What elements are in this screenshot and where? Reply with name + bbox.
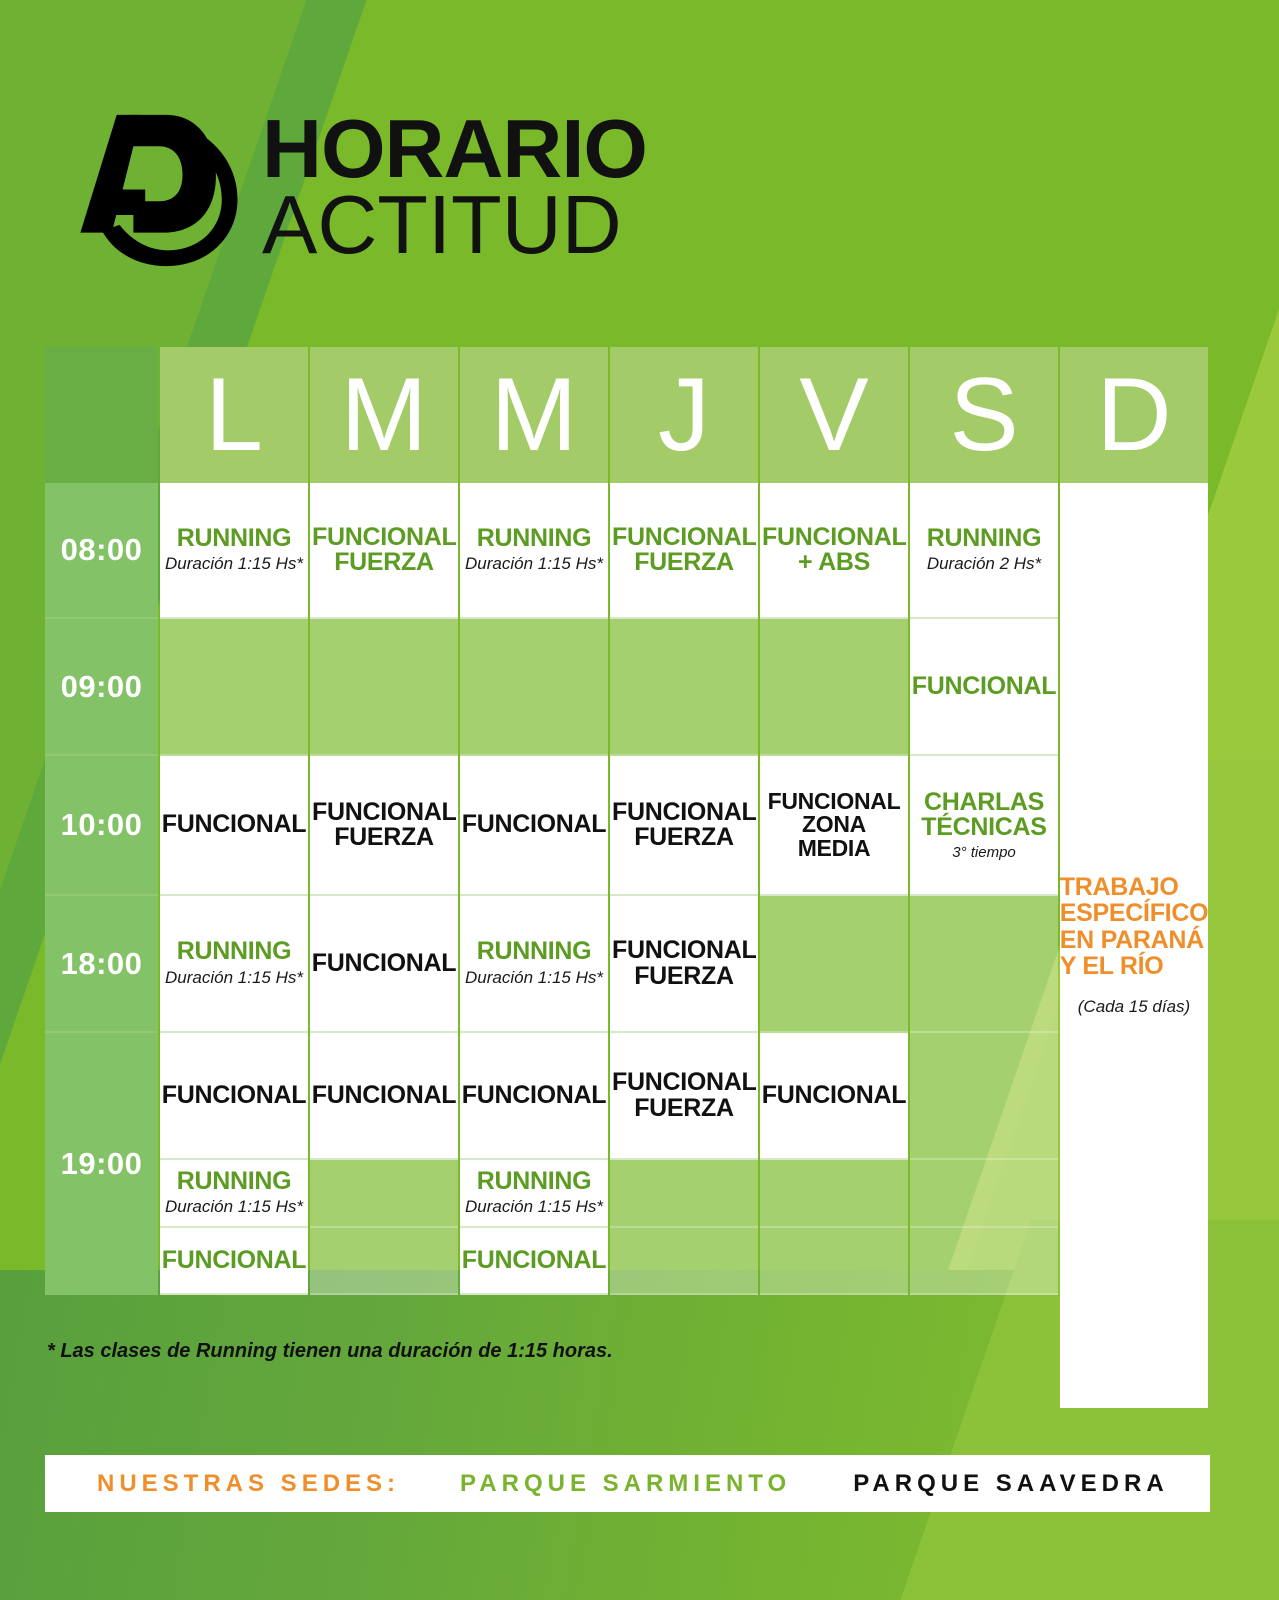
class-cell[interactable]: FUNCIONAL — [460, 1033, 608, 1160]
class-cell[interactable]: RUNNING Duración 1:15 Hs* — [160, 483, 308, 619]
day-column-domingo: TRABAJO ESPECÍFICO EN PARANÁ Y EL RÍO (C… — [1060, 483, 1208, 1408]
schedule-body: 08:00 09:00 10:00 18:00 19:00 RUNNING Du… — [45, 483, 1210, 1408]
class-cell[interactable]: RUNNING Duración 1:15 Hs* — [160, 896, 308, 1033]
footer-sede-sarmiento[interactable]: PARQUE SARMIENTO — [460, 1470, 791, 1498]
class-cell[interactable]: FUNCIONAL — [760, 1033, 908, 1160]
footer-sede-saavedra[interactable]: PARQUE SAAVEDRA — [853, 1470, 1168, 1498]
empty-cell — [910, 1160, 1058, 1228]
class-title: FUNCIONAL FUERZA — [612, 525, 756, 576]
empty-cell — [910, 896, 1058, 1033]
day-header-lunes: L — [160, 347, 308, 483]
day-column-sabado: RUNNING Duración 2 Hs* FUNCIONAL CHARLAS… — [910, 483, 1058, 1408]
day-header-miercoles: M — [460, 347, 608, 483]
class-title: RUNNING — [177, 939, 292, 965]
class-cell[interactable]: FUNCIONAL — [460, 1228, 608, 1295]
class-duration: Duración 1:15 Hs* — [165, 968, 303, 988]
class-cell[interactable]: FUNCIONAL — [910, 619, 1058, 756]
empty-cell — [760, 1228, 908, 1295]
class-title: FUNCIONAL — [462, 812, 607, 838]
empty-cell — [910, 1228, 1058, 1295]
time-label-1800: 18:00 — [45, 896, 158, 1033]
class-duration: Duración 1:15 Hs* — [465, 968, 603, 988]
class-duration: Duración 1:15 Hs* — [465, 1197, 603, 1217]
day-header-martes: M — [310, 347, 458, 483]
class-cell[interactable]: FUNCIONAL — [310, 1033, 458, 1160]
class-note: (Cada 15 días) — [1078, 997, 1190, 1017]
class-title: FUNCIONAL — [162, 1248, 307, 1274]
empty-cell — [910, 1033, 1058, 1160]
class-title: RUNNING — [177, 526, 292, 552]
class-duration: Duración 1:15 Hs* — [465, 554, 603, 574]
class-title: RUNNING — [927, 526, 1042, 552]
day-header-jueves: J — [610, 347, 758, 483]
class-cell[interactable]: FUNCIONAL ZONA MEDIA — [760, 756, 908, 896]
class-cell[interactable]: FUNCIONAL — [160, 1228, 308, 1295]
schedule-grid: L M M J V S D 08:00 09:00 10:00 18:00 19… — [45, 347, 1210, 1408]
empty-cell — [460, 619, 608, 756]
empty-cell — [310, 619, 458, 756]
class-title: FUNCIONAL — [162, 1083, 307, 1109]
day-column-martes: FUNCIONAL FUERZA FUNCIONAL FUERZA FUNCIO… — [310, 483, 458, 1408]
class-title: FUNCIONAL — [312, 1083, 457, 1109]
class-duration: Duración 1:15 Hs* — [165, 1197, 303, 1217]
day-column-lunes: RUNNING Duración 1:15 Hs* FUNCIONAL RUNN… — [160, 483, 308, 1408]
title-line-actitud: ACTITUD — [262, 187, 647, 263]
class-cell-sunday[interactable]: TRABAJO ESPECÍFICO EN PARANÁ Y EL RÍO (C… — [1060, 483, 1208, 1408]
class-cell[interactable]: FUNCIONAL FUERZA — [310, 483, 458, 619]
class-cell[interactable]: RUNNING Duración 1:15 Hs* — [160, 1160, 308, 1228]
class-cell[interactable]: RUNNING Duración 1:15 Hs* — [460, 896, 608, 1033]
class-title: FUNCIONAL — [762, 1083, 907, 1109]
footer-bar: NUESTRAS SEDES: PARQUE SARMIENTO PARQUE … — [45, 1455, 1210, 1512]
class-duration: Duración 2 Hs* — [927, 554, 1041, 574]
class-cell[interactable]: FUNCIONAL FUERZA — [610, 756, 758, 896]
class-title: FUNCIONAL — [462, 1083, 607, 1109]
schedule-poster: HORARIO ACTITUD L M M J V S D 08:00 09:0… — [0, 0, 1279, 1600]
class-title: FUNCIONAL — [162, 812, 307, 838]
class-cell[interactable]: RUNNING Duración 1:15 Hs* — [460, 483, 608, 619]
class-title: CHARLAS TÉCNICAS — [915, 790, 1053, 841]
day-header-row: L M M J V S D — [45, 347, 1210, 483]
empty-cell — [610, 1160, 758, 1228]
day-column-viernes: FUNCIONAL + ABS FUNCIONAL ZONA MEDIA FUN… — [760, 483, 908, 1408]
class-title: FUNCIONAL ZONA MEDIA — [765, 790, 903, 860]
day-column-miercoles: RUNNING Duración 1:15 Hs* FUNCIONAL RUNN… — [460, 483, 608, 1408]
class-note: 3° tiempo — [952, 844, 1016, 861]
class-cell[interactable]: RUNNING Duración 1:15 Hs* — [460, 1160, 608, 1228]
class-title: RUNNING — [477, 939, 592, 965]
day-header-sabado: S — [910, 347, 1058, 483]
class-cell[interactable]: FUNCIONAL FUERZA — [610, 483, 758, 619]
class-duration: Duración 1:15 Hs* — [165, 554, 303, 574]
class-title: FUNCIONAL — [462, 1248, 607, 1274]
class-title: RUNNING — [177, 1169, 292, 1195]
class-cell[interactable]: FUNCIONAL — [460, 756, 608, 896]
class-cell[interactable]: FUNCIONAL FUERZA — [310, 756, 458, 896]
day-header-domingo: D — [1060, 347, 1208, 483]
class-cell[interactable]: FUNCIONAL — [160, 1033, 308, 1160]
class-title: FUNCIONAL FUERZA — [312, 525, 456, 576]
time-label-0800: 08:00 — [45, 483, 158, 619]
grid-corner-spacer — [45, 347, 158, 483]
empty-cell — [310, 1160, 458, 1228]
class-cell[interactable]: FUNCIONAL — [160, 756, 308, 896]
time-label-0900: 09:00 — [45, 619, 158, 756]
title-block: HORARIO ACTITUD — [262, 111, 647, 264]
empty-cell — [760, 1160, 908, 1228]
footer-label: NUESTRAS SEDES: — [97, 1470, 400, 1498]
class-title: FUNCIONAL FUERZA — [612, 1070, 756, 1121]
empty-cell — [760, 896, 908, 1033]
class-cell[interactable]: RUNNING Duración 2 Hs* — [910, 483, 1058, 619]
class-cell[interactable]: FUNCIONAL FUERZA — [610, 896, 758, 1033]
empty-cell — [760, 619, 908, 756]
time-label-1900: 19:00 — [45, 1033, 158, 1295]
class-title: FUNCIONAL FUERZA — [312, 800, 456, 851]
title-line-horario: HORARIO — [262, 111, 647, 187]
day-column-jueves: FUNCIONAL FUERZA FUNCIONAL FUERZA FUNCIO… — [610, 483, 758, 1408]
time-label-1000: 10:00 — [45, 756, 158, 896]
class-title: FUNCIONAL — [912, 674, 1057, 700]
empty-cell — [610, 1228, 758, 1295]
class-title: FUNCIONAL FUERZA — [612, 800, 756, 851]
class-cell[interactable]: FUNCIONAL — [310, 896, 458, 1033]
class-title: RUNNING — [477, 526, 592, 552]
class-cell[interactable]: CHARLAS TÉCNICAS 3° tiempo — [910, 756, 1058, 896]
class-title: TRABAJO ESPECÍFICO EN PARANÁ Y EL RÍO — [1060, 874, 1208, 979]
empty-cell — [310, 1228, 458, 1295]
time-column: 08:00 09:00 10:00 18:00 19:00 — [45, 483, 158, 1408]
ad-logo-icon — [72, 105, 240, 270]
poster-header: HORARIO ACTITUD — [0, 92, 1279, 282]
day-header-viernes: V — [760, 347, 908, 483]
class-title: FUNCIONAL + ABS — [762, 525, 906, 576]
footnote-text: * Las clases de Running tienen una durac… — [47, 1340, 613, 1363]
class-title: RUNNING — [477, 1169, 592, 1195]
empty-cell — [610, 619, 758, 756]
class-title: FUNCIONAL — [312, 951, 457, 977]
class-cell[interactable]: FUNCIONAL FUERZA — [610, 1033, 758, 1160]
empty-cell — [160, 619, 308, 756]
class-cell[interactable]: FUNCIONAL + ABS — [760, 483, 908, 619]
class-title: FUNCIONAL FUERZA — [612, 938, 756, 989]
